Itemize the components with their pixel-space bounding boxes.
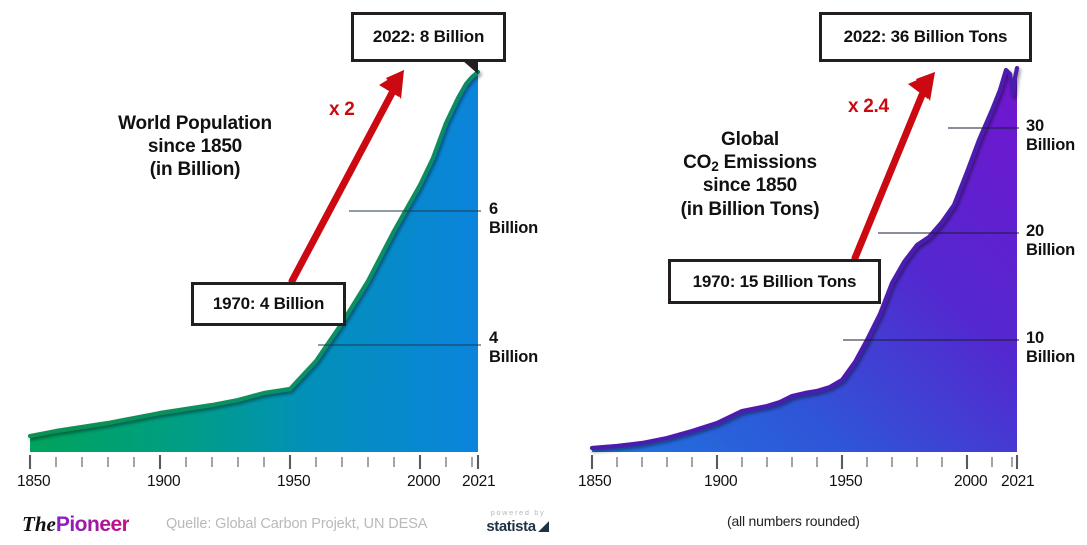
left-axis-ticks [30,455,478,469]
right-title-line2: CO2 Emissions [620,151,880,174]
left-xtick-1950: 1950 [277,473,310,491]
left-callout-1970[interactable]: 1970: 4 Billion [191,282,346,326]
left-ytick-4-unit: Billion [489,348,538,367]
right-title-emissions: Emissions [719,152,817,173]
powered-by-label: powered by [479,509,557,517]
left-title-line2: since 1850 [60,135,330,158]
right-ytick-30-unit: Billion [1026,136,1075,155]
left-ytick-6: 6 Billion [489,200,538,238]
right-xtick-2021: 2021 [1001,473,1034,491]
statista-wordmark: statista [486,519,535,534]
right-ytick-10-value: 10 [1026,329,1075,348]
left-ytick-6-unit: Billion [489,219,538,238]
right-title-co: CO [683,152,711,173]
infographic-stage: World Population since 1850 (in Billion)… [0,0,1087,545]
right-ytick-20-unit: Billion [1026,241,1075,260]
right-title-co-sub: 2 [711,159,718,174]
right-ytick-10-unit: Billion [1026,348,1075,367]
left-ytick-4: 4 Billion [489,329,538,367]
left-callout-2022[interactable]: 2022: 8 Billion [351,12,506,62]
left-callout-tail [462,60,478,74]
left-multiplier-label: x 2 [329,99,355,121]
source-credit: Quelle: Global Carbon Projekt, UN DESA [166,516,427,532]
left-title-line1: World Population [60,112,330,135]
left-ytick-6-value: 6 [489,200,538,219]
right-xtick-2000: 2000 [954,473,987,491]
left-xtick-2021: 2021 [462,473,495,491]
left-xtick-1850: 1850 [17,473,50,491]
right-axis-ticks [592,455,1017,469]
right-ytick-30: 30 Billion [1026,117,1075,155]
right-xtick-1950: 1950 [829,473,862,491]
brand-logo[interactable]: ThePioneer [22,514,129,535]
right-title-line1: Global [620,128,880,151]
right-title-line4: (in Billion Tons) [620,198,880,221]
charts-canvas [0,0,1087,545]
right-multiplier-label: x 2.4 [848,96,889,118]
right-ytick-20-value: 20 [1026,222,1075,241]
statista-mark-icon [538,521,550,533]
left-title-line3: (in Billion) [60,158,330,181]
brand-pioneer: Pioneer [56,513,130,536]
right-xtick-1900: 1900 [704,473,737,491]
right-xtick-1850: 1850 [578,473,611,491]
right-ytick-10: 10 Billion [1026,329,1075,367]
brand-the: The [22,512,56,536]
statista-logo[interactable]: powered by statista [479,509,557,535]
right-ytick-20: 20 Billion [1026,222,1075,260]
right-title-line3: since 1850 [620,174,880,197]
left-panel-title: World Population since 1850 (in Billion) [60,112,330,182]
right-callout-2022[interactable]: 2022: 36 Billion Tons [819,12,1032,62]
right-ytick-30-value: 30 [1026,117,1075,136]
right-callout-1970[interactable]: 1970: 15 Billion Tons [668,259,881,304]
right-panel-title: Global CO2 Emissions since 1850 (in Bill… [620,128,880,221]
left-ytick-4-value: 4 [489,329,538,348]
left-xtick-1900: 1900 [147,473,180,491]
left-xtick-2000: 2000 [407,473,440,491]
rounding-note: (all numbers rounded) [727,513,860,529]
